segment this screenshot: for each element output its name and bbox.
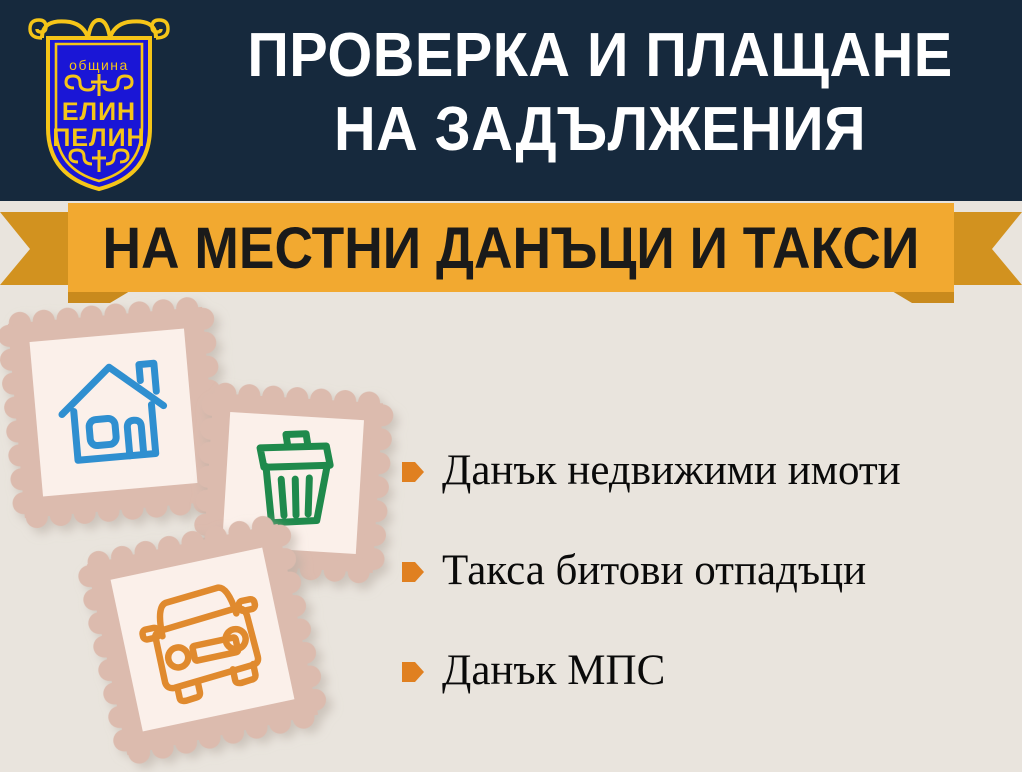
stamp-card-house <box>0 296 230 529</box>
arrow-bullet-icon <box>402 559 424 585</box>
list-item-label: Данък недвижими имоти <box>442 449 901 492</box>
municipality-logo: община ЕЛИН ПЕЛИН <box>22 8 177 193</box>
list-item[interactable]: Данък МПС <box>402 620 1022 720</box>
title-line-2: НА ЗАДЪЛЖЕНИЯ <box>214 100 986 161</box>
list-item-label: Такса битови отпадъци <box>442 549 866 592</box>
tax-type-list: Данък недвижими имоти Такса битови отпад… <box>402 420 1022 720</box>
ribbon-right-tail <box>954 212 1022 285</box>
ribbon-left-tail <box>0 212 68 285</box>
title-line-1: ПРОВЕРКА И ПЛАЩАНЕ <box>214 26 986 87</box>
arrow-bullet-icon <box>402 659 424 685</box>
ribbon-panel <box>68 203 954 292</box>
list-item[interactable]: Данък недвижими имоти <box>402 420 1022 520</box>
logo-word-elin: ЕЛИН <box>62 98 136 126</box>
arrow-bullet-icon <box>402 459 424 485</box>
page-title: ПРОВЕРКА И ПЛАЩАНЕ НА ЗАДЪЛЖЕНИЯ <box>185 16 1015 161</box>
logo-word-obshtina: община <box>69 57 129 73</box>
stamp-card-car <box>75 512 330 767</box>
ribbon-banner <box>0 199 1022 309</box>
poster-root: община ЕЛИН ПЕЛИН <box>0 0 1022 772</box>
list-item-label: Данък МПС <box>442 649 665 692</box>
logo-word-pelin: ПЕЛИН <box>52 124 145 152</box>
header-bar: община ЕЛИН ПЕЛИН <box>0 0 1022 201</box>
stamp-collage <box>0 300 430 772</box>
list-item[interactable]: Такса битови отпадъци <box>402 520 1022 620</box>
